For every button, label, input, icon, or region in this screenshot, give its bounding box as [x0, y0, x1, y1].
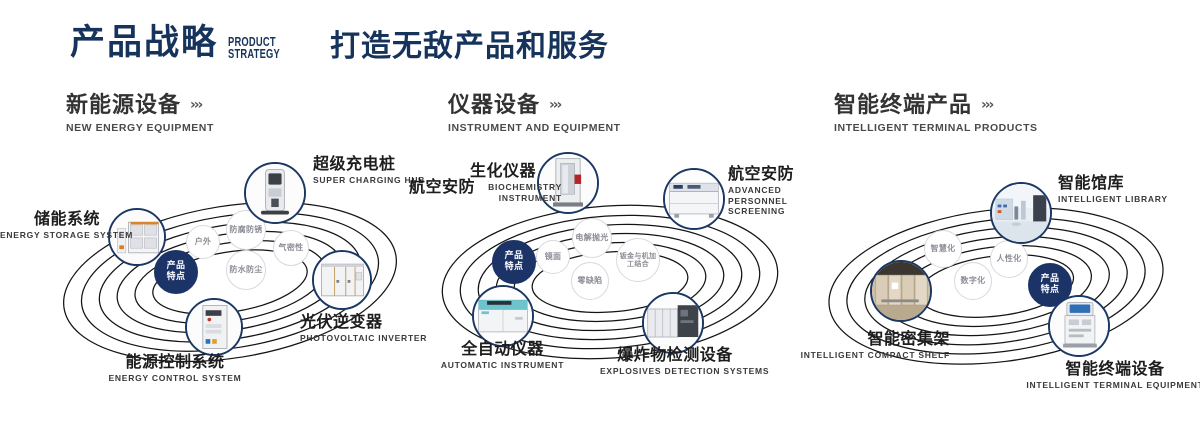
- section-title-cn: 智能终端产品 ›››: [834, 94, 1038, 117]
- node-label-intelligent-library: 智能馆库 INTELLIGENT LIBRARY: [1058, 174, 1200, 205]
- center-bubble-product-features: 产品特点: [492, 240, 536, 284]
- feature-bubble: 零缺陷: [571, 262, 609, 300]
- node-label-automatic-instrument: 全自动仪器 AUTOMATIC INSTRUMENT: [420, 340, 585, 371]
- feature-bubble: 电解抛光: [572, 218, 612, 258]
- diagram-group-intelligent-terminal: 智慧化 数字化 人性化 产品特点 智能馆库: [800, 150, 1200, 410]
- node-label-storage-system: 储能系统 ENERGY STORAGE SYSTEM: [0, 210, 100, 241]
- node-label-aviation-security: 航空安防: [409, 178, 479, 196]
- node-screening-machine[interactable]: [663, 168, 725, 230]
- section-title-intelligent-terminal: 智能终端产品 ››› INTELLIGENT TERMINAL PRODUCTS: [834, 94, 1038, 134]
- section-title-en: NEW ENERGY EQUIPMENT: [66, 122, 214, 134]
- auto-analyzer-icon: [474, 287, 532, 345]
- node-inverter-cabinet[interactable]: [312, 250, 372, 310]
- section-title-en: INSTRUMENT AND EQUIPMENT: [448, 122, 621, 134]
- feature-bubble: 钣金与机加工结合: [616, 238, 660, 282]
- control-cabinet-icon: [187, 300, 241, 354]
- node-auto-analyzer[interactable]: [472, 285, 534, 347]
- center-bubble-text: 产品特点: [1041, 274, 1060, 296]
- center-bubble-text: 产品特点: [167, 261, 186, 283]
- node-label-energy-control-system: 能源控制系统 ENERGY CONTROL SYSTEM: [90, 353, 260, 384]
- page-title-en: PRODUCT STRATEGY: [228, 36, 280, 60]
- center-bubble-text: 产品特点: [505, 251, 524, 273]
- feature-bubble: 气密性: [273, 230, 309, 266]
- inverter-cabinet-icon: [314, 252, 370, 308]
- charging-pile-icon: [246, 164, 304, 222]
- section-title-cn: 新能源设备 ›››: [66, 94, 214, 117]
- feature-bubble: 户外: [186, 225, 220, 259]
- section-title-cn-text: 智能终端产品: [834, 94, 972, 117]
- node-charging-pile[interactable]: [244, 162, 306, 224]
- chevron-right-icon: ›››: [981, 98, 992, 113]
- feature-bubble: 镜面: [536, 240, 570, 274]
- detection-unit-icon: [644, 294, 702, 352]
- node-label-intelligent-terminal-equipment: 智能终端设备 INTELLIGENT TERMINAL EQUIPMENT: [1020, 360, 1200, 391]
- compact-shelf-icon: [872, 262, 930, 320]
- kiosk-terminal-icon: [1050, 297, 1108, 355]
- page-subtitle: 打造无敌产品和服务: [330, 32, 609, 62]
- section-title-cn-text: 仪器设备: [448, 94, 540, 117]
- page-title-en-line2: STRATEGY: [228, 48, 280, 60]
- diagram-group-new-energy: 户外 防腐防锈 防水防尘 气密性 产品特点 储能系: [30, 150, 430, 410]
- feature-bubble: 人性化: [990, 240, 1028, 278]
- node-label-intelligent-compact-shelf: 智能密集架 INTELLIGENT COMPACT SHELF: [790, 330, 950, 361]
- node-label-biochemistry-instrument: 生化仪器 BIOCHEMISTRY INSTRUMENT: [470, 162, 600, 203]
- product-strategy-infographic: 产品战略 PRODUCT STRATEGY 打造无敌产品和服务 新能源设备 ››…: [0, 0, 1200, 422]
- node-kiosk-terminal[interactable]: [1048, 295, 1110, 357]
- feature-bubble: 数字化: [954, 262, 992, 300]
- section-title-cn: 仪器设备 ›››: [448, 94, 621, 117]
- feature-bubble: 防水防尘: [226, 250, 266, 290]
- section-title-en: INTELLIGENT TERMINAL PRODUCTS: [834, 122, 1038, 134]
- page-title: 产品战略 PRODUCT STRATEGY: [70, 26, 300, 61]
- section-title-cn-text: 新能源设备: [66, 94, 181, 117]
- section-title-new-energy: 新能源设备 ››› NEW ENERGY EQUIPMENT: [66, 94, 214, 134]
- chevron-right-icon: ›››: [190, 98, 201, 113]
- chevron-right-icon: ›››: [549, 98, 560, 113]
- page-title-cn: 产品战略: [70, 26, 218, 61]
- node-library-room[interactable]: [990, 182, 1052, 244]
- node-label-explosives-detection: 爆炸物检测设备 EXPLOSIVES DETECTION SYSTEMS: [600, 346, 750, 377]
- section-title-instrument: 仪器设备 ››› INSTRUMENT AND EQUIPMENT: [448, 94, 621, 134]
- node-compact-shelf[interactable]: [870, 260, 932, 322]
- library-room-icon: [992, 184, 1050, 242]
- screening-machine-icon: [665, 170, 723, 228]
- node-control-cabinet[interactable]: [185, 298, 243, 356]
